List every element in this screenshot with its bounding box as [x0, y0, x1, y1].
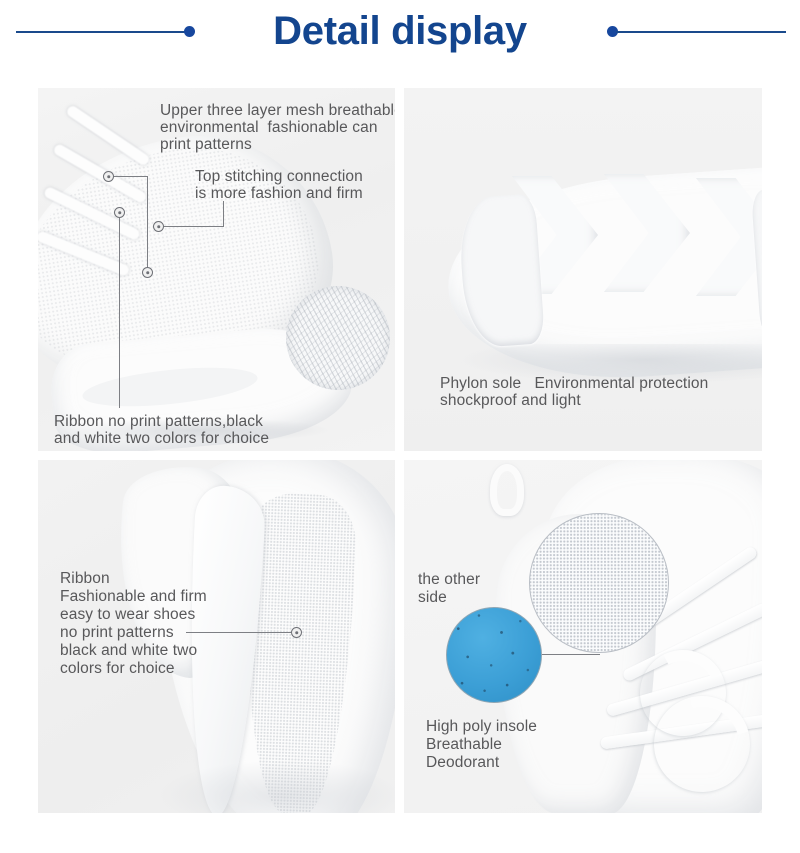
- callout-other-side-line-1: the other: [418, 571, 480, 589]
- callout-ribbon-line-3: easy to wear shoes: [60, 606, 195, 624]
- detail-display-page: Detail display Upper three layer mesh br…: [0, 0, 800, 853]
- leader-stitching-v: [223, 201, 224, 227]
- panel-phylon-sole: Phylon sole Environmental protection sho…: [404, 88, 762, 451]
- callout-top-stitching-line-2: is more fashion and firm: [195, 185, 363, 203]
- callout-ribbon-colors-line-2: and white two colors for choice: [54, 430, 269, 448]
- callout-phylon-sole-line-1: Phylon sole Environmental protection: [440, 375, 708, 393]
- callout-ribbon-colors-line-1: Ribbon no print patterns,black: [54, 413, 263, 431]
- callout-ribbon-line-6: colors for choice: [60, 660, 175, 678]
- callout-other-side-line-2: side: [418, 589, 447, 607]
- callout-marker-upper-c: [114, 207, 125, 218]
- panel-high-poly-insole: the other side High poly insole Breathab…: [404, 460, 762, 813]
- panel-ribbon-collar: Ribbon Fashionable and firm easy to wear…: [38, 460, 395, 813]
- callout-upper-mesh-line-3: print patterns: [160, 136, 252, 154]
- callout-upper-mesh-line-2: environmental fashionable can: [160, 119, 378, 137]
- header-rule-right: [616, 31, 786, 33]
- callout-high-poly-insole-line-2: Breathable: [426, 736, 502, 754]
- callout-high-poly-insole-line-1: High poly insole: [426, 718, 537, 736]
- callout-marker-upper-a: [103, 171, 114, 182]
- callout-upper-mesh-line-1: Upper three layer mesh breathable: [160, 102, 395, 120]
- leader-upper-c-v: [119, 218, 120, 408]
- callout-ribbon-line-4: no print patterns: [60, 624, 174, 642]
- callout-marker-stitching: [153, 221, 164, 232]
- mesh-detail-magnifier: [529, 513, 669, 653]
- callout-marker-upper-b: [142, 267, 153, 278]
- stitch-detail-magnifier: [286, 286, 390, 390]
- callout-ribbon-line-2: Fashionable and firm: [60, 588, 207, 606]
- callout-ribbon-line-1: Ribbon: [60, 570, 110, 588]
- leader-insole-h: [542, 654, 600, 655]
- callout-phylon-sole-line-2: shockproof and light: [440, 392, 581, 410]
- callout-ribbon-line-5: black and white two: [60, 642, 197, 660]
- callout-top-stitching-line-1: Top stitching connection: [195, 168, 363, 186]
- panel-upper-mesh: Upper three layer mesh breathable enviro…: [38, 88, 395, 451]
- page-header: Detail display: [0, 0, 800, 78]
- leader-upper-a-h: [114, 176, 148, 177]
- leader-stitching-h: [164, 226, 224, 227]
- callout-marker-ribbon: [291, 627, 302, 638]
- leader-upper-a-v: [147, 176, 148, 271]
- insole-material-swatch: [446, 607, 542, 703]
- leader-ribbon-h: [186, 632, 291, 633]
- callout-high-poly-insole-line-3: Deodorant: [426, 754, 499, 772]
